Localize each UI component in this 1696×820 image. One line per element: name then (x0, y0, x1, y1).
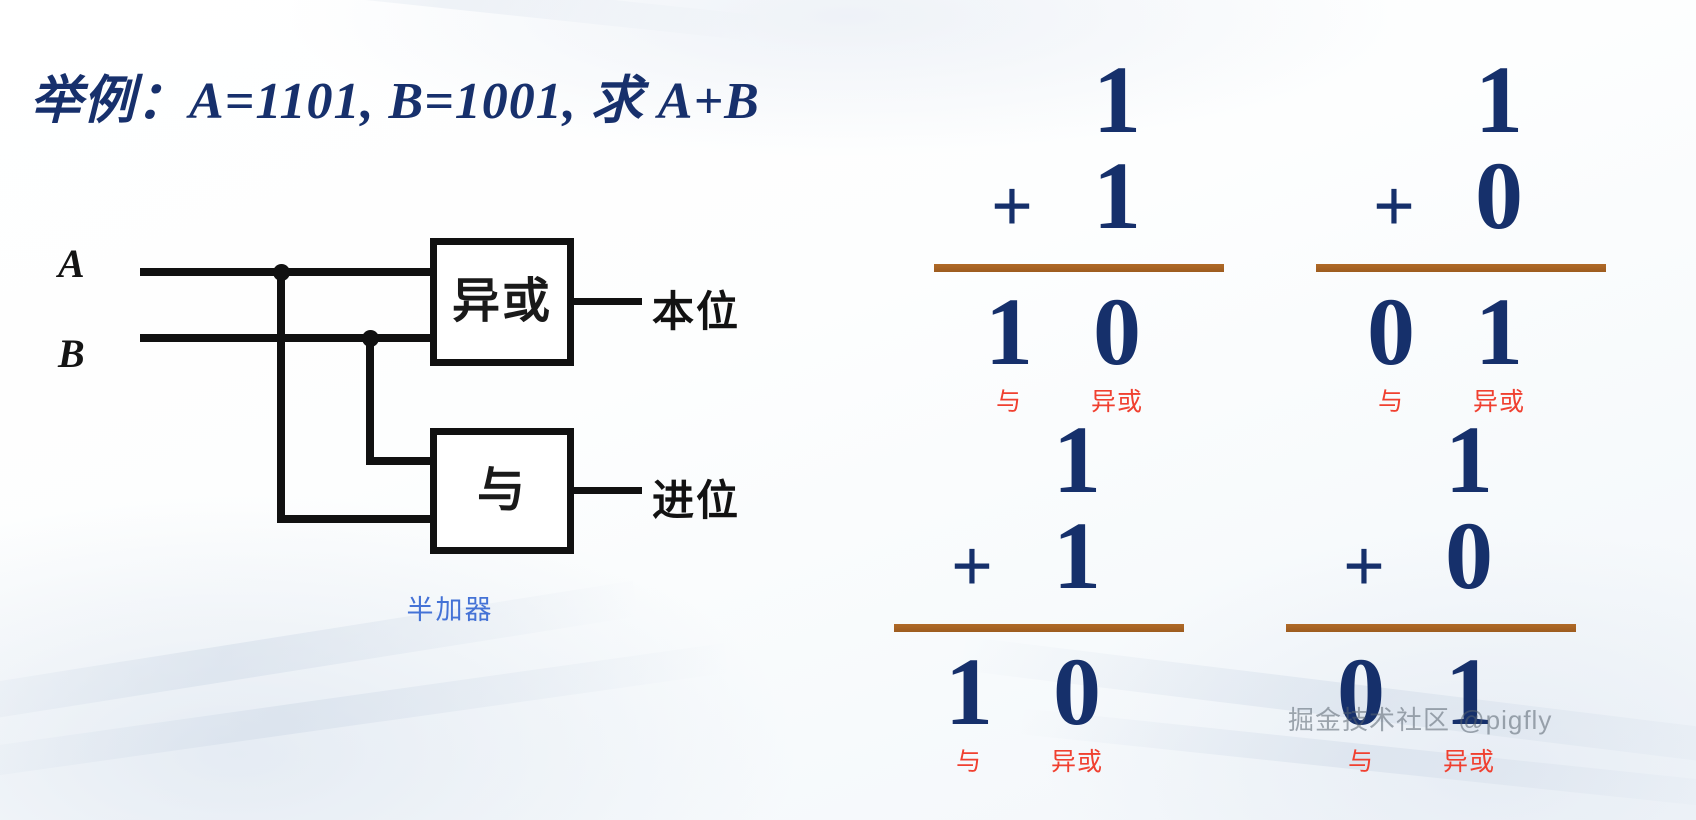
calc-block-bottom-right: 1 + 0 0 1 与 异或 (1238, 412, 1558, 752)
background-texture-band (200, 0, 760, 41)
calc-plus-operator: + (1364, 170, 1424, 244)
wire-and-output (574, 487, 642, 494)
input-label-b: B (58, 330, 85, 377)
gate-and[interactable]: 与 (430, 428, 574, 554)
calc-plus-operator: + (942, 530, 1002, 604)
calc-sum-tag: 异或 (1419, 742, 1519, 778)
wire-b-horizontal (140, 334, 432, 342)
calc-carry-digit: 0 (1326, 644, 1396, 740)
calc-top-digit: 1 (1042, 412, 1112, 508)
wire-a-branch-vertical (277, 268, 285, 522)
calc-carry-tag: 与 (1326, 742, 1396, 778)
calc-carry-tag: 与 (934, 742, 1004, 778)
calc-carry-digit: 1 (934, 644, 1004, 740)
calc-block-top-left: 1 + 1 1 0 与 异或 (886, 52, 1206, 392)
slide-canvas: 举例：A=1101, B=1001, 求 A+B A B 异或 本位 与 (0, 0, 1696, 820)
slide-title: 举例：A=1101, B=1001, 求 A+B (30, 58, 760, 133)
input-label-a: A (58, 240, 85, 287)
calc-carry-digit: 1 (974, 284, 1044, 380)
calc-divider-rule (1316, 264, 1606, 272)
calc-block-bottom-left: 1 + 1 1 0 与 异或 (846, 412, 1166, 752)
gate-xor[interactable]: 异或 (430, 238, 574, 366)
wire-b-branch-vertical (366, 334, 374, 464)
calc-divider-rule (1286, 624, 1576, 632)
wire-a-branch-to-and (277, 515, 437, 523)
calc-divider-rule (934, 264, 1224, 272)
calc-plus-operator: + (1334, 530, 1394, 604)
calc-divider-rule (894, 624, 1184, 632)
calc-bottom-digit: 1 (1042, 508, 1112, 604)
calc-sum-digit: 0 (1082, 284, 1152, 380)
calc-bottom-digit: 0 (1434, 508, 1504, 604)
background-texture-band (0, 643, 728, 787)
calc-carry-digit: 0 (1356, 284, 1426, 380)
half-adder-diagram: A B 异或 本位 与 进位 半加器 (0, 210, 840, 650)
half-adder-caption: 半加器 (355, 588, 545, 627)
calc-top-digit: 1 (1464, 52, 1534, 148)
calc-sum-digit: 1 (1434, 644, 1504, 740)
output-label-carry: 进位 (652, 467, 740, 528)
calc-bottom-digit: 1 (1082, 148, 1152, 244)
output-label-sum: 本位 (652, 278, 740, 339)
calc-sum-digit: 1 (1464, 284, 1534, 380)
gate-xor-label: 异或 (452, 278, 552, 326)
junction-dot-b (362, 330, 379, 347)
calc-top-digit: 1 (1082, 52, 1152, 148)
calc-plus-operator: + (982, 170, 1042, 244)
calc-sum-tag: 异或 (1027, 742, 1127, 778)
junction-dot-a (273, 264, 290, 281)
calc-block-top-right: 1 + 0 0 1 与 异或 (1268, 52, 1588, 392)
gate-and-label: 与 (477, 467, 527, 515)
wire-xor-output (574, 298, 642, 305)
calc-top-digit: 1 (1434, 412, 1504, 508)
wire-b-branch-to-and (366, 457, 436, 465)
calc-sum-digit: 0 (1042, 644, 1112, 740)
calc-bottom-digit: 0 (1464, 148, 1534, 244)
